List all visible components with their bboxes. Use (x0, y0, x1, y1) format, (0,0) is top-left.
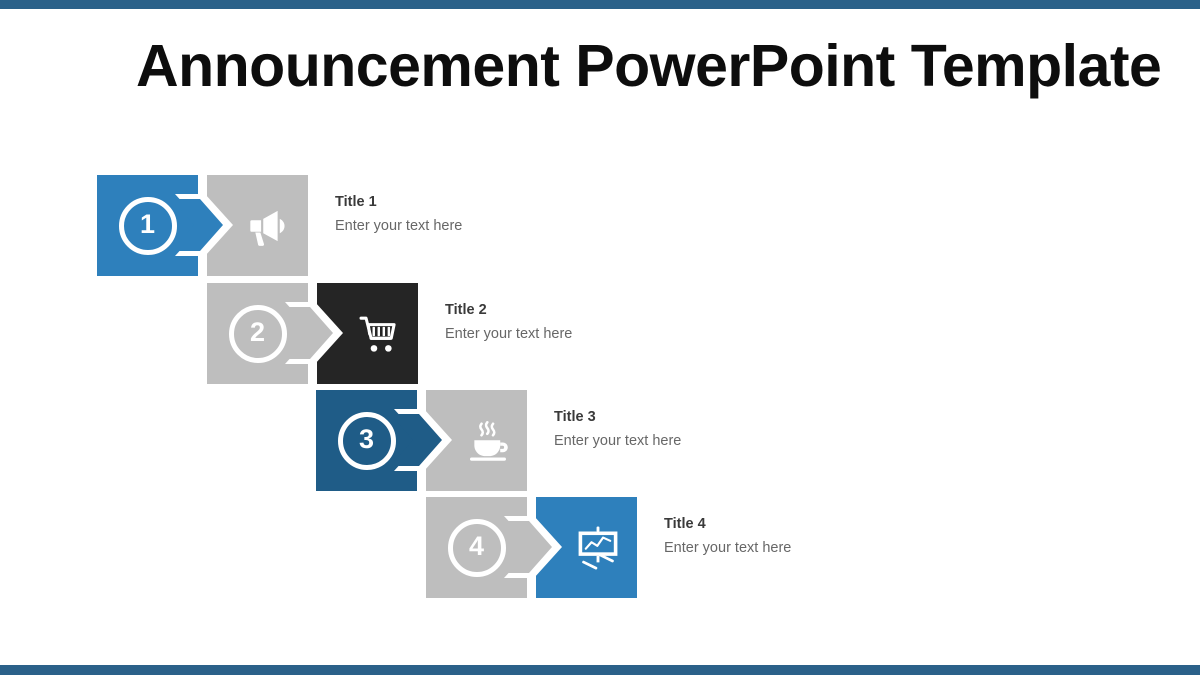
step-title[interactable]: Title 4 (664, 515, 791, 535)
coffee-cup-icon (443, 418, 511, 464)
step-number-label: 3 (359, 426, 374, 453)
step-title[interactable]: Title 3 (554, 408, 681, 428)
step-number-label: 4 (469, 533, 484, 560)
step-text-block: Title 4Enter your text here (664, 515, 791, 559)
presentation-chart-icon (553, 525, 621, 571)
step-number-circle: 3 (338, 412, 396, 470)
step-description[interactable]: Enter your text here (335, 216, 462, 237)
step-text-block: Title 2Enter your text here (445, 301, 572, 345)
step-title[interactable]: Title 1 (335, 193, 462, 213)
step-text-block: Title 1Enter your text here (335, 193, 462, 237)
bottom-accent-bar (0, 665, 1200, 675)
step-number-circle: 2 (229, 305, 287, 363)
step-number-label: 2 (250, 319, 265, 346)
page-title: Announcement PowerPoint Template (136, 33, 1161, 99)
step-arrow-icon (175, 194, 233, 256)
step-arrow-icon (504, 516, 562, 578)
step-title[interactable]: Title 2 (445, 301, 572, 321)
step-arrow-icon (285, 302, 343, 364)
top-accent-bar (0, 0, 1200, 9)
step-description[interactable]: Enter your text here (554, 431, 681, 452)
step-number-circle: 4 (448, 519, 506, 577)
step-number-circle: 1 (119, 197, 177, 255)
megaphone-icon (224, 203, 292, 249)
step-description[interactable]: Enter your text here (445, 324, 572, 345)
slide-canvas: Announcement PowerPoint Template 1 Title… (0, 0, 1200, 675)
step-arrow-icon (394, 409, 452, 471)
step-description[interactable]: Enter your text here (664, 538, 791, 559)
step-text-block: Title 3Enter your text here (554, 408, 681, 452)
step-number-label: 1 (140, 211, 155, 238)
shopping-cart-icon (334, 311, 402, 357)
